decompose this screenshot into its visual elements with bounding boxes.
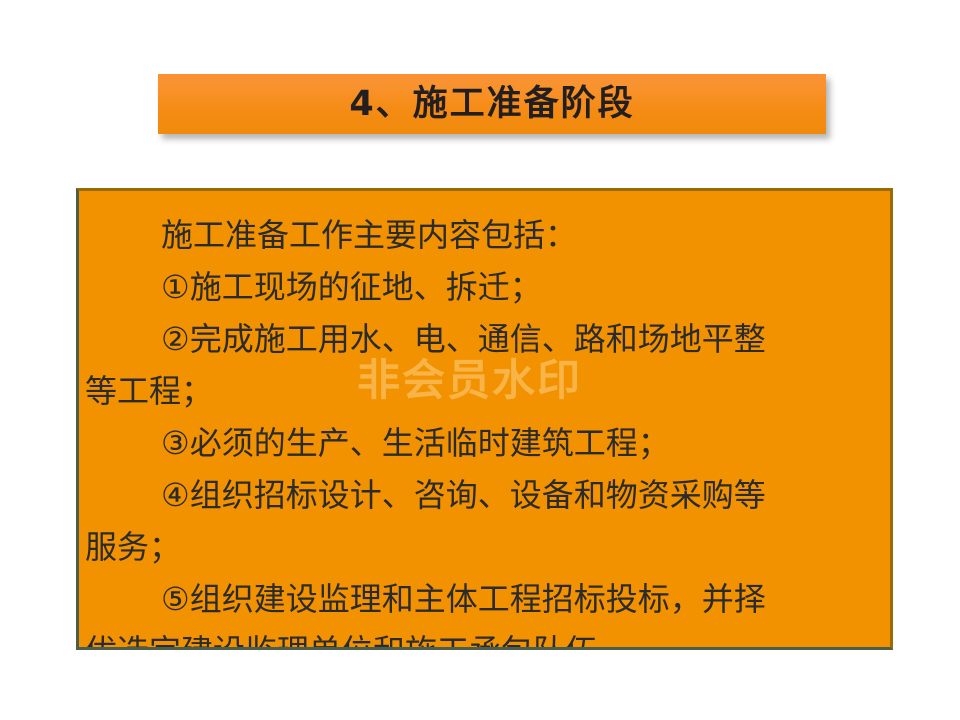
content-paragraph-list: 施工准备工作主要内容包括： ①施工现场的征地、拆迁； ②完成施工用水、电、通信、…: [79, 191, 890, 650]
slide-canvas: 4、施工准备阶段 非会员水印 施工准备工作主要内容包括： ①施工现场的征地、拆迁…: [0, 0, 960, 720]
content-line: ③必须的生产、生活临时建筑工程；: [85, 417, 884, 469]
content-line: 优选定建设监理单位和施工承包队伍。: [85, 625, 884, 650]
content-line: 等工程；: [85, 365, 884, 417]
content-line: 服务；: [85, 521, 884, 573]
content-line: ①施工现场的征地、拆迁；: [85, 261, 884, 313]
slide-title-text: 4、施工准备阶段: [349, 87, 634, 122]
slide-title-banner: 4、施工准备阶段: [158, 74, 826, 134]
content-line: ⑤组织建设监理和主体工程招标投标，并择: [85, 573, 884, 625]
content-line: 施工准备工作主要内容包括：: [85, 209, 884, 261]
content-body-box: 非会员水印 施工准备工作主要内容包括： ①施工现场的征地、拆迁； ②完成施工用水…: [76, 188, 893, 650]
content-line: ②完成施工用水、电、通信、路和场地平整: [85, 313, 884, 365]
content-line: ④组织招标设计、咨询、设备和物资采购等: [85, 469, 884, 521]
